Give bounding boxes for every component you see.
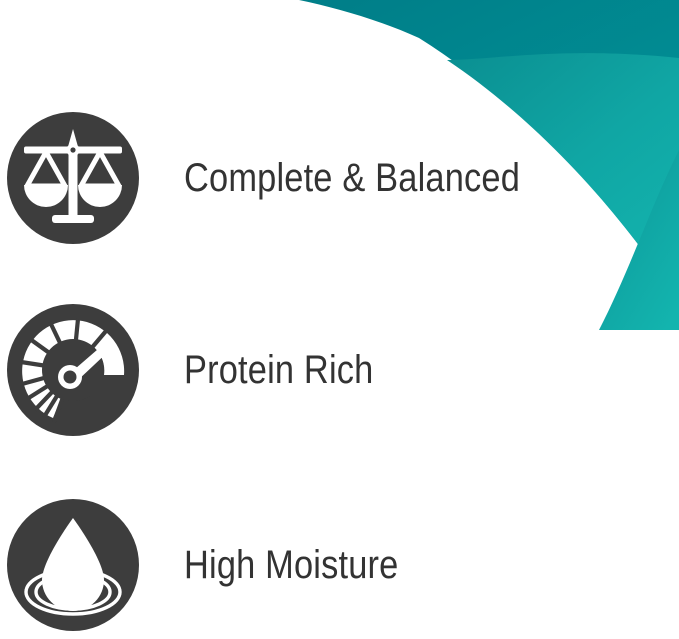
- scale-base: [52, 215, 94, 223]
- feature-label-complete-and-balanced: Complete & Balanced: [184, 158, 520, 198]
- speedometer-icon: [6, 303, 140, 437]
- feature-row-high-moisture: High Moisture: [0, 495, 560, 635]
- feature-label-protein-rich: Protein Rich: [184, 350, 507, 390]
- gauge-hub-center: [64, 371, 77, 384]
- balance-scale-icon: [6, 111, 140, 245]
- swoosh-tail-shape: [599, 150, 679, 330]
- feature-label-high-moisture: High Moisture: [184, 545, 507, 585]
- scale-post: [69, 129, 78, 215]
- feature-highlights-panel: Complete & Balanced: [0, 0, 679, 639]
- water-droplet-icon: [6, 498, 140, 632]
- feature-row-protein-rich: Protein Rich: [0, 300, 560, 440]
- feature-row-complete-and-balanced: Complete & Balanced: [0, 108, 560, 248]
- scale-fulcrum-hole: [70, 147, 75, 152]
